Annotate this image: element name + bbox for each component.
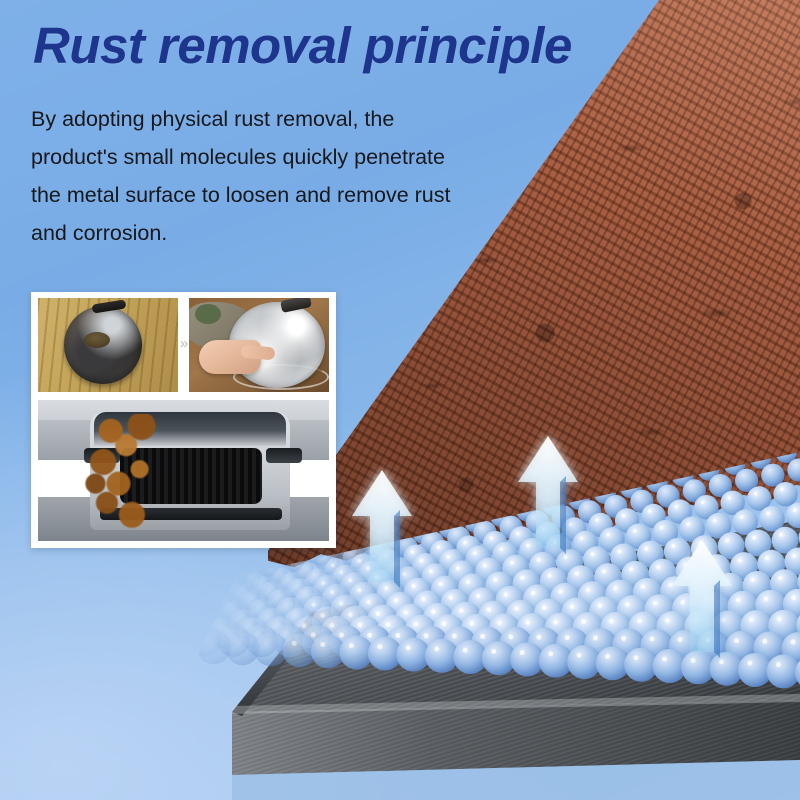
- background-item: [195, 304, 221, 324]
- arrow-icon: [352, 470, 412, 588]
- arrow-icon: [672, 540, 732, 658]
- description-line: and corrosion.: [31, 214, 591, 252]
- photo-collage: »: [31, 292, 336, 548]
- headlight-right: [266, 448, 302, 463]
- description-line: the metal surface to loosen and remove r…: [31, 176, 591, 214]
- infographic-canvas: Rust removal principle By adopting physi…: [0, 0, 800, 800]
- rusty-pot-before-photo: [38, 298, 178, 392]
- description-line: By adopting physical rust removal, the: [31, 100, 591, 138]
- car-rust-patch: [82, 414, 178, 534]
- description-paragraph: By adopting physical rust removal, the p…: [31, 100, 591, 252]
- description-line: product's small molecules quickly penetr…: [31, 138, 591, 176]
- clean-pot-after-photo: [189, 298, 329, 392]
- rusty-car-front-photo: [38, 400, 329, 541]
- arrow-separator-icon: »: [177, 336, 191, 351]
- arrow-icon: [518, 436, 578, 554]
- rust-stain: [84, 332, 110, 348]
- page-title: Rust removal principle: [33, 17, 572, 75]
